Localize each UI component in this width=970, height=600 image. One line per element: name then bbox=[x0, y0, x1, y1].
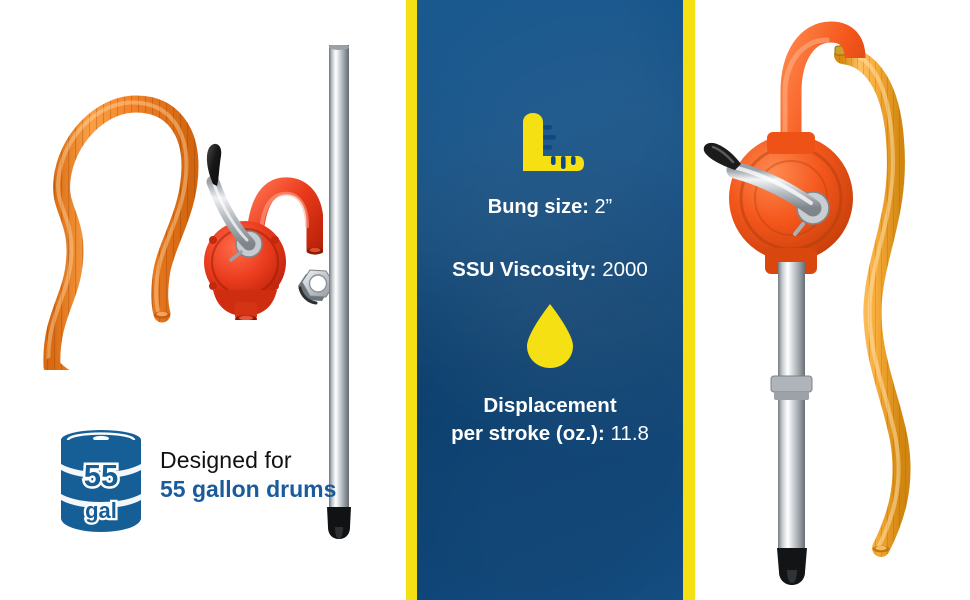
spec-bung-size-value: 2” bbox=[594, 196, 612, 218]
oil-drop-icon bbox=[524, 303, 576, 369]
drum-badge-icon: 55 gal bbox=[58, 428, 144, 533]
left-accent-stripe bbox=[406, 0, 417, 600]
ruler-icon bbox=[515, 112, 585, 178]
spec-bung-size-label: Bung size: bbox=[488, 196, 589, 218]
spec-ssu-viscosity-value: 2000 bbox=[602, 258, 648, 281]
left-product-panel: 55 gal Designed for 55 gallon drums bbox=[0, 0, 402, 600]
spec-displacement-label: Displacement bbox=[483, 394, 616, 417]
rotary-hand-pump-assembled bbox=[695, 0, 970, 600]
spec-displacement-value: 11.8 bbox=[611, 422, 649, 445]
product-banner: 55 gal Designed for 55 gallon drums Bung… bbox=[0, 0, 970, 600]
spec-displacement-label2: per stroke (oz.): bbox=[451, 422, 605, 445]
specs-panel: Bung size: 2” SSU Viscosity: 2000 Displa… bbox=[417, 0, 683, 600]
drum-badge-unit: gal bbox=[85, 498, 117, 523]
spec-displacement: Displacement per stroke (oz.): 11.8 bbox=[417, 392, 683, 448]
right-accent-stripe bbox=[683, 0, 695, 600]
spec-ssu-viscosity-label: SSU Viscosity: bbox=[452, 258, 596, 281]
tube-foot-cap bbox=[324, 505, 354, 541]
drum-callout-line2: 55 gallon drums bbox=[160, 474, 390, 504]
spec-bung-size: Bung size: 2” bbox=[417, 196, 683, 219]
spec-ssu-viscosity: SSU Viscosity: 2000 bbox=[417, 258, 683, 282]
right-product-panel bbox=[695, 0, 970, 600]
drum-callout-text: Designed for 55 gallon drums bbox=[160, 446, 390, 504]
drum-callout-line1: Designed for bbox=[160, 446, 390, 474]
drum-badge-value: 55 bbox=[84, 458, 118, 493]
